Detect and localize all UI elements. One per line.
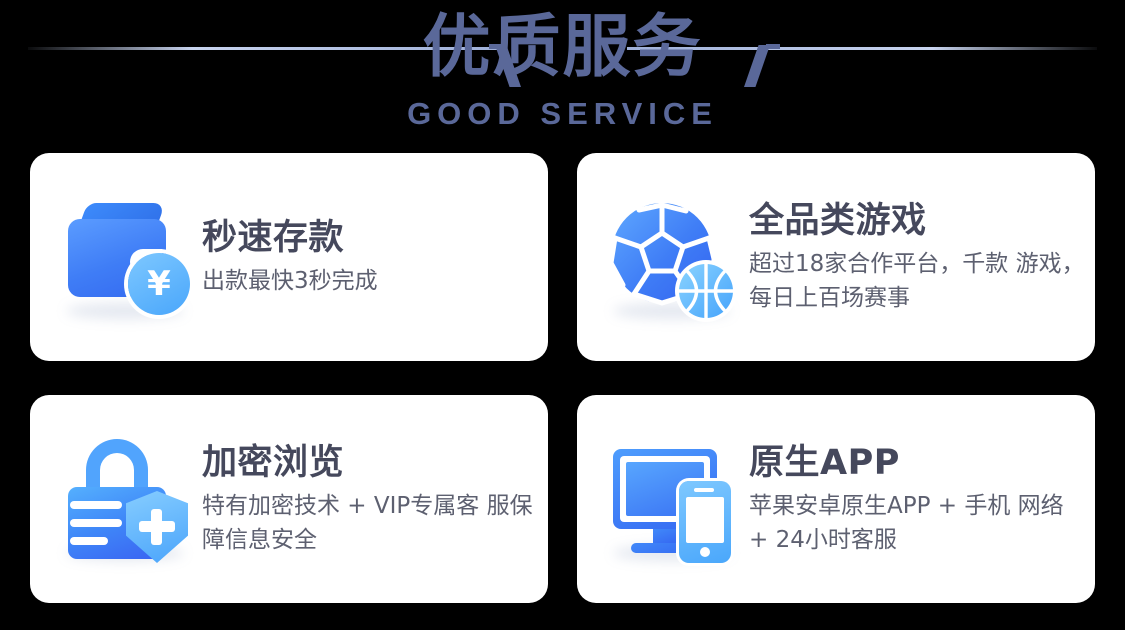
page-subtitle: GOOD SERVICE [0,96,1125,132]
phone-screen [686,497,724,543]
card-title: 全品类游戏 [749,200,1085,242]
feature-card-games[interactable]: 全品类游戏 超过18家合作平台，千款 游戏，每日上百场赛事 [577,153,1095,361]
page-title: 优质服务 [0,6,1125,90]
card-title: 加密浏览 [202,442,538,484]
card-text-block: 加密浏览 特有加密技术 + VIP专属客 服保障信息安全 [202,442,548,557]
card-text-block: 全品类游戏 超过18家合作平台，千款 游戏，每日上百场赛事 [749,200,1095,315]
card-description: 苹果安卓原生APP + 手机 网络 + 24小时客服 [749,489,1085,557]
card-description: 出款最快3秒完成 [202,264,538,298]
lock-slot [70,537,108,545]
card-text-block: 秒速存款 出款最快3秒完成 [202,217,548,298]
feature-card-native-app[interactable]: 原生APP 苹果安卓原生APP + 手机 网络 + 24小时客服 [577,395,1095,603]
yen-coin: ¥ [128,253,190,315]
soccer-basketball-icon [607,191,739,323]
lock-slot [70,501,122,509]
feature-card-encryption[interactable]: 加密浏览 特有加密技术 + VIP专属客 服保障信息安全 [30,395,548,603]
monitor-phone-icon [607,433,739,565]
feature-card-grid: ¥ 秒速存款 出款最快3秒完成 [30,153,1095,603]
ball-graphic [609,197,737,323]
phone-speaker [694,488,714,492]
feature-card-deposit[interactable]: ¥ 秒速存款 出款最快3秒完成 [30,153,548,361]
card-title: 秒速存款 [202,217,538,259]
card-text-block: 原生APP 苹果安卓原生APP + 手机 网络 + 24小时客服 [749,442,1095,557]
monitor-neck [653,529,677,543]
card-description: 超过18家合作平台，千款 游戏，每日上百场赛事 [749,247,1085,315]
yen-symbol: ¥ [147,267,171,301]
phone-home-button [700,547,710,557]
card-title: 原生APP [749,442,1085,484]
wallet-yen-icon: ¥ [60,191,192,323]
lock-shield-icon [60,433,192,565]
card-description: 特有加密技术 + VIP专属客 服保障信息安全 [202,489,538,557]
page-header: 优质服务 GOOD SERVICE [0,0,1125,146]
plus-icon [151,509,162,545]
lock-slot [70,519,122,527]
promo-page: 优质服务 GOOD SERVICE ¥ 秒速存款 出款最快3秒完成 [0,0,1125,630]
